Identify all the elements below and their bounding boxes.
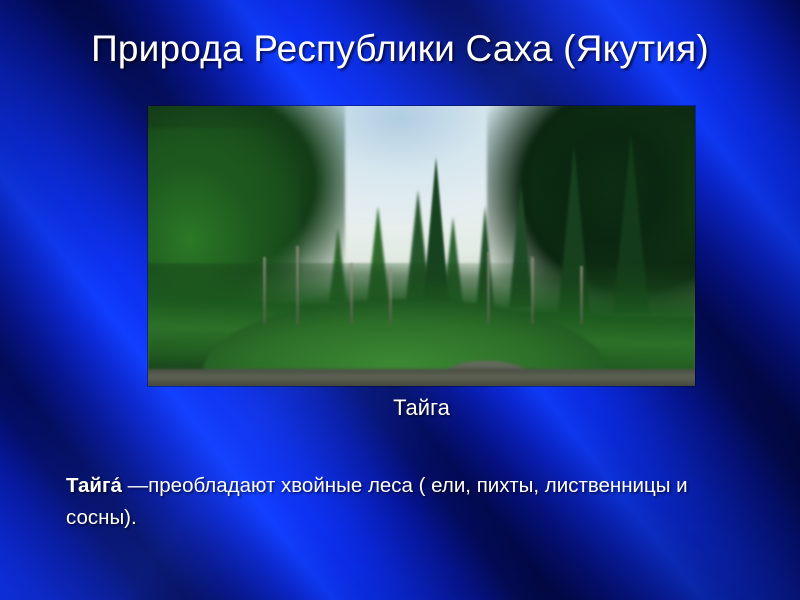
photo-tree-trunk (296, 246, 299, 324)
photo-tree-trunk (263, 257, 266, 324)
photo-road (148, 369, 695, 386)
photo-tree-trunk (531, 257, 534, 324)
taiga-forest-photo (148, 106, 695, 386)
slide-canvas: Природа Республики Саха (Якутия) (0, 0, 800, 600)
photo-tree-trunk (389, 268, 392, 324)
photo-caption: Тайга (148, 394, 695, 422)
photo-tree-trunk (487, 252, 490, 325)
photo-tree-trunk (350, 263, 353, 325)
slide-title: Природа Республики Саха (Якутия) (60, 22, 740, 75)
slide-body-text: Тайга́ —преобладают хвойные леса ( ели, … (66, 470, 756, 534)
body-lead-term: Тайга́ (66, 474, 122, 497)
body-definition: —преобладают хвойные леса ( ели, пихты, … (66, 474, 688, 529)
photo-tree-trunk (580, 266, 583, 325)
